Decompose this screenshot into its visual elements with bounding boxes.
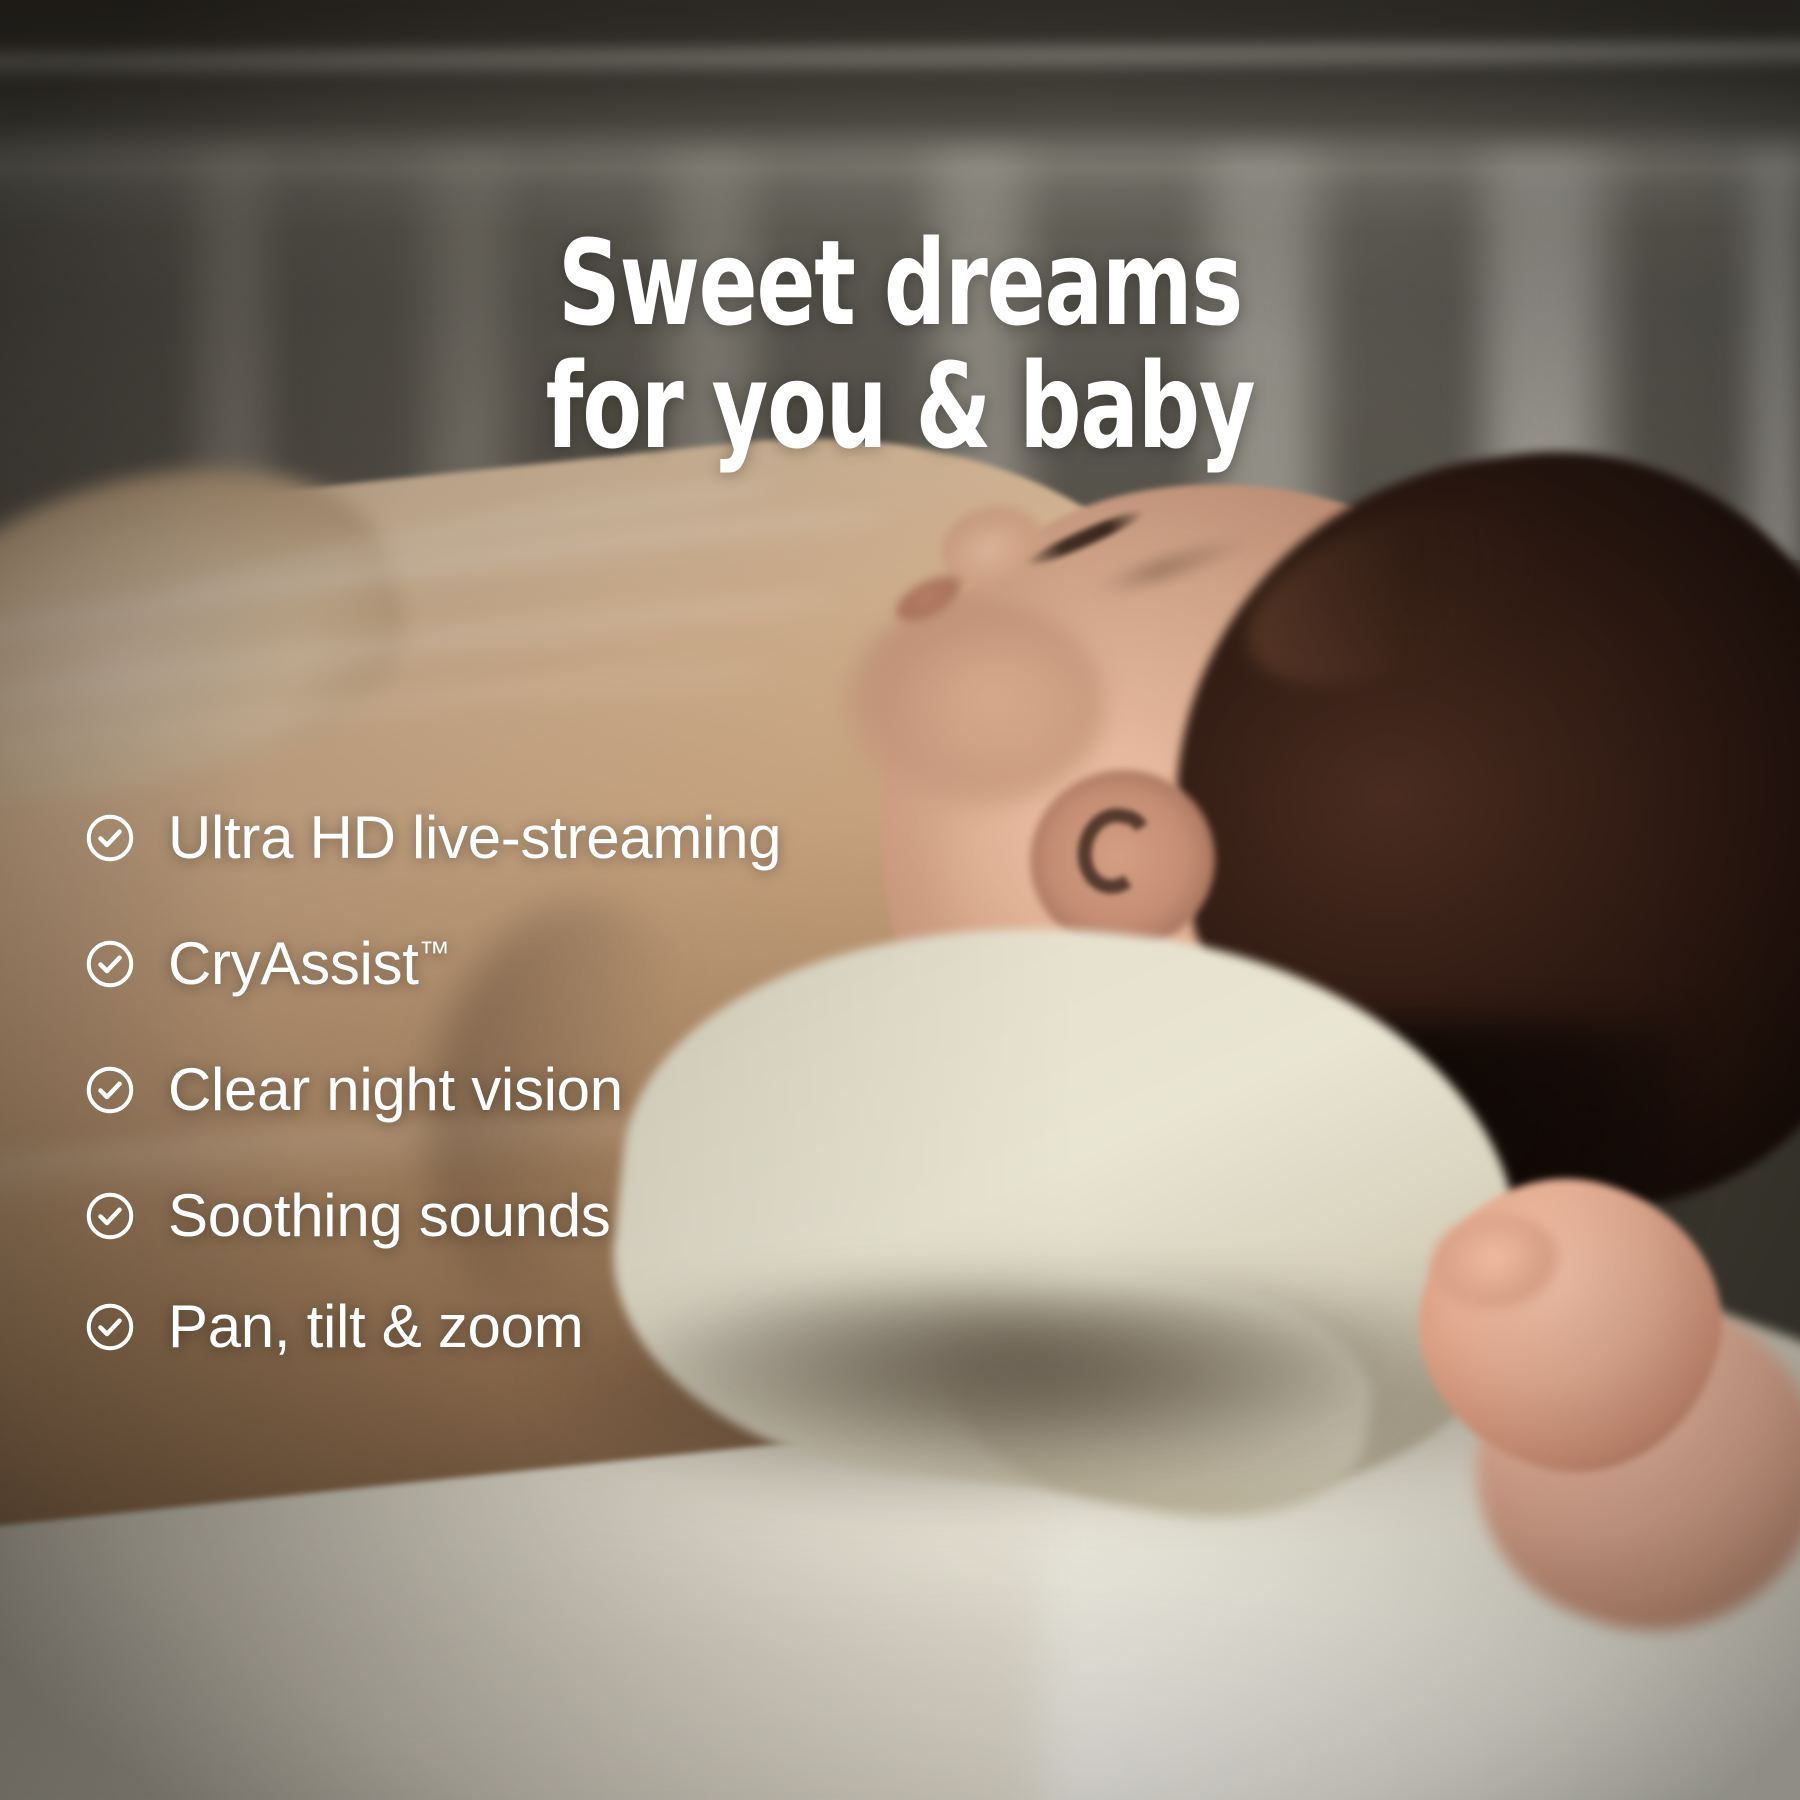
check-circle-icon [82,1062,138,1118]
list-item: Ultra HD live-streaming [82,806,781,869]
list-item-label: CryAssist™ [168,932,450,995]
check-circle-icon [82,810,138,866]
list-item-text: CryAssist [168,930,419,997]
list-item-label: Clear night vision [168,1058,623,1121]
list-item-label: Pan, tilt & zoom [168,1295,583,1358]
feature-list: Ultra HD live-streaming CryAssist™ [82,806,781,1358]
text-overlay: Sweet dreams for you & baby Ultra HD liv… [0,0,1800,1800]
list-item-label: Soothing sounds [168,1184,611,1247]
list-item: Soothing sounds [82,1184,781,1247]
list-item: CryAssist™ [82,932,781,995]
list-item: Clear night vision [82,1058,781,1121]
headline: Sweet dreams for you & baby [162,222,1638,467]
check-circle-icon [82,936,138,992]
promo-banner: Sweet dreams for you & baby Ultra HD liv… [0,0,1800,1800]
trademark-symbol: ™ [419,935,450,970]
check-circle-icon [82,1299,138,1355]
list-item-label: Ultra HD live-streaming [168,806,781,869]
list-item: Pan, tilt & zoom [82,1295,781,1358]
check-circle-icon [82,1188,138,1244]
